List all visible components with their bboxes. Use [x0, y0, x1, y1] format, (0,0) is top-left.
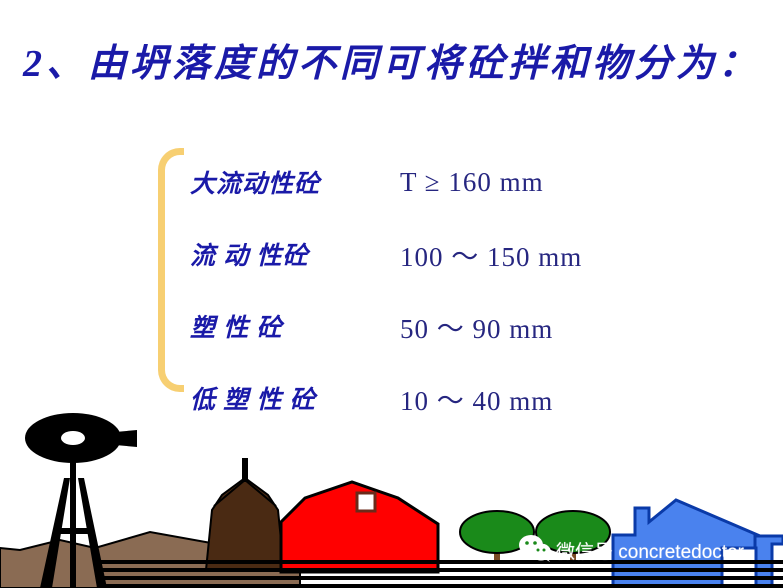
list-item-value: 50 ～ 90 mm [380, 307, 630, 346]
list-item: 塑 性 砼 50 ～ 90 mm [190, 290, 630, 362]
list-item-value: T ≥ 160 mm [380, 167, 630, 198]
red-barn [281, 482, 438, 572]
consistency-class-list: 大流动性砼 T ≥ 160 mm 流 动 性砼 100 ～ 150 mm 塑 性… [190, 146, 630, 434]
list-item: 大流动性砼 T ≥ 160 mm [190, 146, 630, 218]
trees [460, 511, 610, 564]
list-item: 流 动 性砼 100 ～ 150 mm [190, 218, 630, 290]
farm-building [206, 458, 284, 570]
page-title: 2、由坍落度的不同可将砼拌和物分为： [0, 44, 783, 86]
list-item-value: 100 ～ 150 mm [380, 235, 630, 274]
list-item-label: 大流动性砼 [190, 164, 380, 200]
blue-house [613, 500, 783, 588]
list-item-label: 流 动 性砼 [190, 236, 380, 272]
presentation-slide: 2、由坍落度的不同可将砼拌和物分为： 大流动性砼 T ≥ 160 mm 流 动 … [0, 0, 783, 588]
list-item-label: 塑 性 砼 [190, 308, 380, 344]
farm-scene-illustration [0, 400, 783, 588]
bracket-decoration [158, 148, 184, 392]
